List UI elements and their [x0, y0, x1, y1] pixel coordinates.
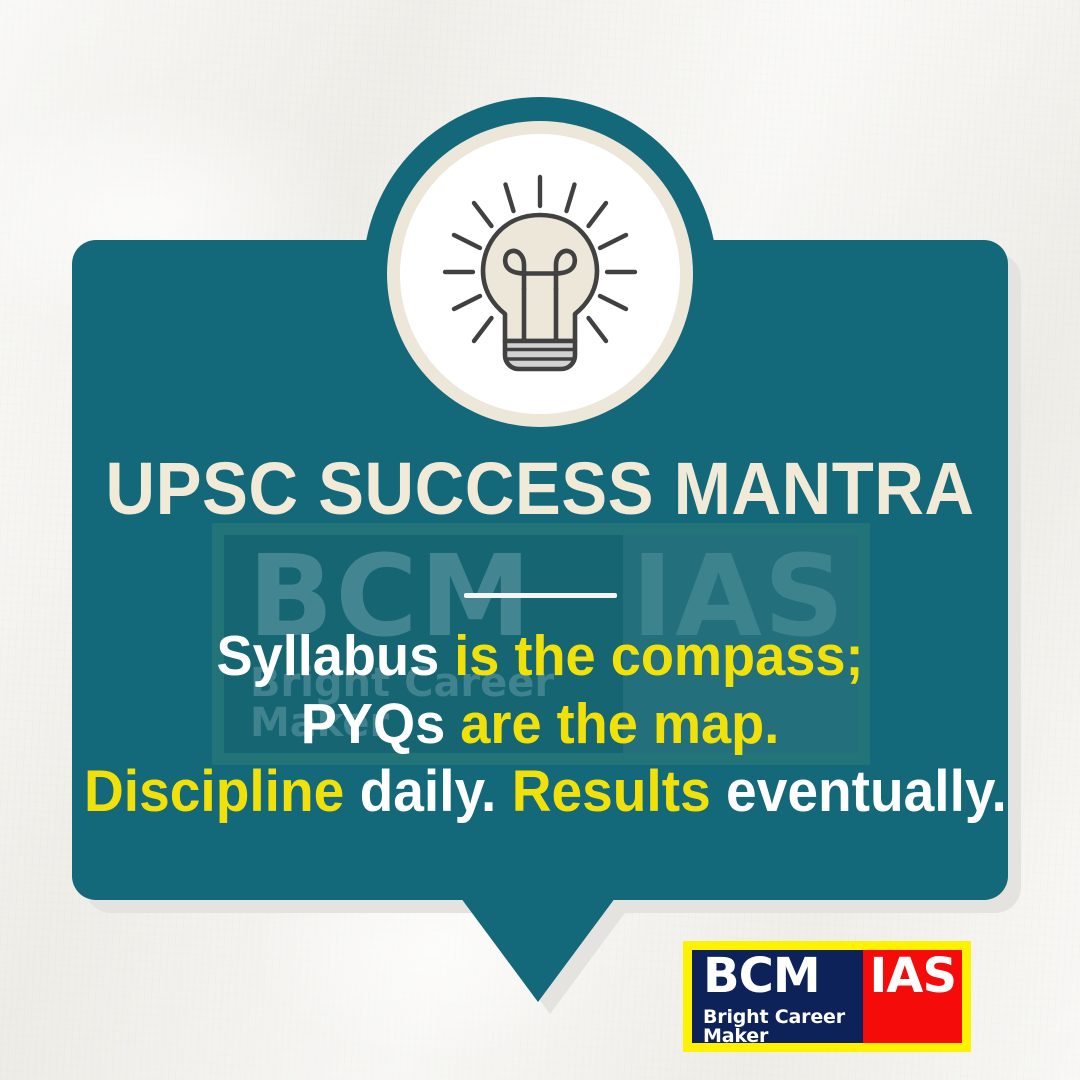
page-title: UPSC SUCCESS MANTRA — [105, 452, 975, 526]
quote-segment: daily. — [360, 759, 512, 824]
logo-right-panel: IAS — [863, 950, 962, 1043]
logo-left-panel: BCM Bright Career Maker — [692, 950, 863, 1043]
speech-bubble-tail — [452, 886, 624, 1002]
logo-tagline: Bright Career Maker — [703, 1008, 863, 1046]
quote-segment: is the compass; — [454, 624, 863, 688]
quote-segment: eventually. — [726, 759, 1007, 824]
badge-inner-ring — [387, 121, 693, 427]
quote-block: Syllabus is the compass;PYQs are the map… — [60, 622, 1020, 826]
poster-canvas: BCM Bright Career Maker IAS UPSC SUCCESS… — [0, 0, 1080, 1080]
lightbulb-icon — [425, 159, 655, 389]
quote-segment: Discipline — [84, 759, 360, 824]
quote-segment: Syllabus — [216, 624, 454, 688]
title-divider — [464, 593, 617, 598]
logo-brand: BCM — [703, 952, 820, 1000]
quote-segment: are the map. — [460, 692, 779, 756]
quote-line: Syllabus is the compass; — [84, 622, 996, 690]
quote-segment: PYQs — [301, 692, 461, 756]
badge-face — [400, 134, 680, 414]
quote-line: Discipline daily. Results eventually. — [84, 758, 996, 826]
quote-segment: Results — [512, 759, 726, 824]
logo-body: BCM Bright Career Maker IAS — [692, 950, 962, 1043]
lightbulb-badge — [363, 97, 717, 451]
logo-suffix: IAS — [869, 952, 956, 1000]
bcm-ias-logo: BCM Bright Career Maker IAS — [683, 941, 971, 1052]
quote-line: PYQs are the map. — [84, 690, 996, 758]
